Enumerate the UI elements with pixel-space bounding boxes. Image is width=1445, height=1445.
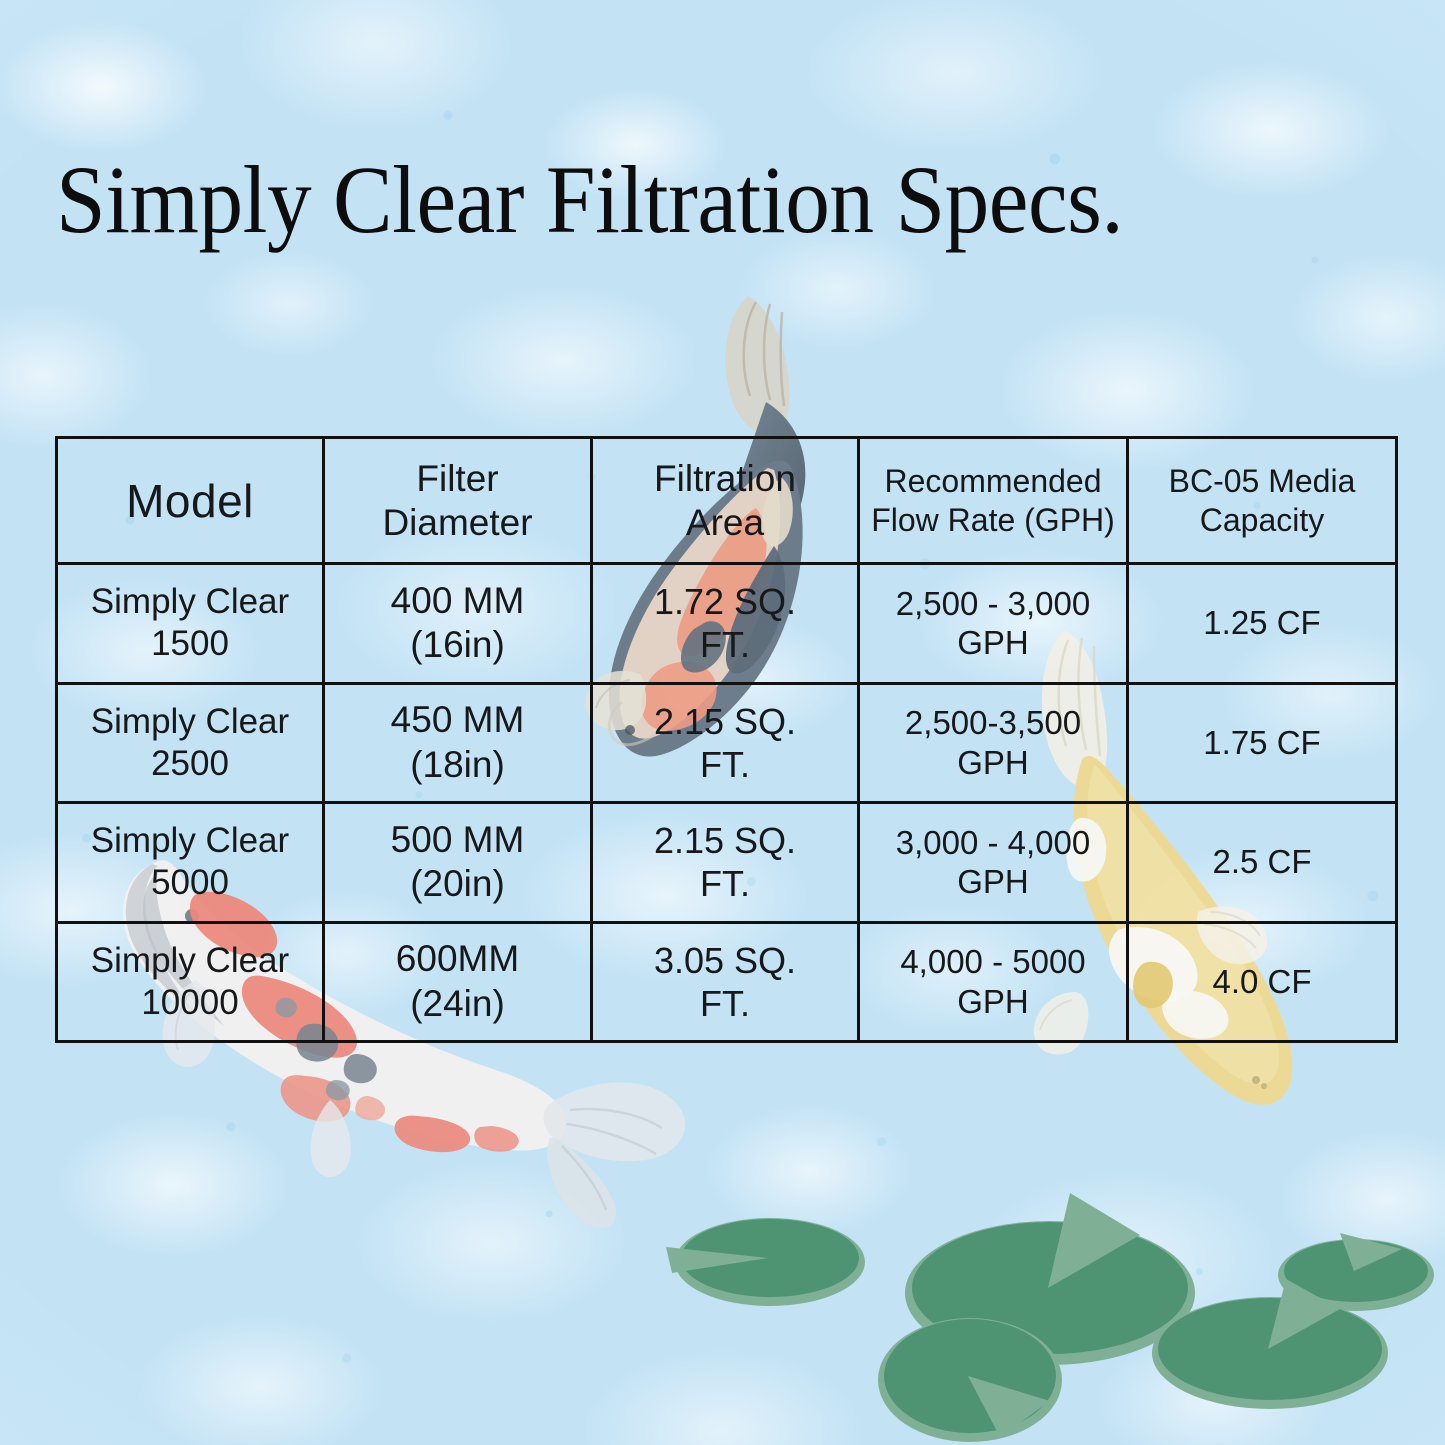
lily-pad-group [650, 1175, 1410, 1445]
table-row: Simply Clear 5000 500 MM (20in) 2.15 SQ.… [57, 803, 1397, 923]
cell-flow-rate: 4,000 - 5000 GPH [859, 922, 1128, 1042]
column-header-media-capacity: BC-05 Media Capacity [1128, 438, 1397, 564]
cell-filter-diameter: 600MM (24in) [324, 922, 592, 1042]
cell-media-capacity: 1.75 CF [1128, 683, 1397, 803]
cell-media-capacity: 2.5 CF [1128, 803, 1397, 923]
cell-flow-rate: 3,000 - 4,000 GPH [859, 803, 1128, 923]
cell-filter-diameter: 450 MM (18in) [324, 683, 592, 803]
cell-media-capacity: 1.25 CF [1128, 564, 1397, 684]
cell-filter-diameter: 500 MM (20in) [324, 803, 592, 923]
cell-filtration-area: 1.72 SQ. FT. [592, 564, 859, 684]
cell-model: Simply Clear 2500 [57, 683, 324, 803]
column-header-flow-rate: Recommended Flow Rate (GPH) [859, 438, 1128, 564]
cell-model: Simply Clear 1500 [57, 564, 324, 684]
cell-flow-rate: 2,500 - 3,000 GPH [859, 564, 1128, 684]
cell-filtration-area: 3.05 SQ. FT. [592, 922, 859, 1042]
page-title: Simply Clear Filtration Specs. [56, 152, 1302, 248]
table-row: Simply Clear 10000 600MM (24in) 3.05 SQ.… [57, 922, 1397, 1042]
table-row: Simply Clear 2500 450 MM (18in) 2.15 SQ.… [57, 683, 1397, 803]
cell-filtration-area: 2.15 SQ. FT. [592, 803, 859, 923]
table-row: Simply Clear 1500 400 MM (16in) 1.72 SQ.… [57, 564, 1397, 684]
poster-canvas: Simply Clear Filtration Specs. Model Fil… [0, 0, 1445, 1445]
column-header-filter-diameter: Filter Diameter [324, 438, 592, 564]
table-header-row: Model Filter Diameter Filtration Area Re… [57, 438, 1397, 564]
column-header-filtration-area: Filtration Area [592, 438, 859, 564]
cell-filtration-area: 2.15 SQ. FT. [592, 683, 859, 803]
cell-flow-rate: 2,500-3,500 GPH [859, 683, 1128, 803]
lily-pad-1 [666, 1218, 865, 1306]
column-header-model: Model [57, 438, 324, 564]
cell-filter-diameter: 400 MM (16in) [324, 564, 592, 684]
lily-pad-4 [878, 1318, 1062, 1442]
cell-model: Simply Clear 10000 [57, 922, 324, 1042]
cell-media-capacity: 4.0 CF [1128, 922, 1397, 1042]
cell-model: Simply Clear 5000 [57, 803, 324, 923]
filtration-specs-table: Model Filter Diameter Filtration Area Re… [55, 436, 1398, 1043]
